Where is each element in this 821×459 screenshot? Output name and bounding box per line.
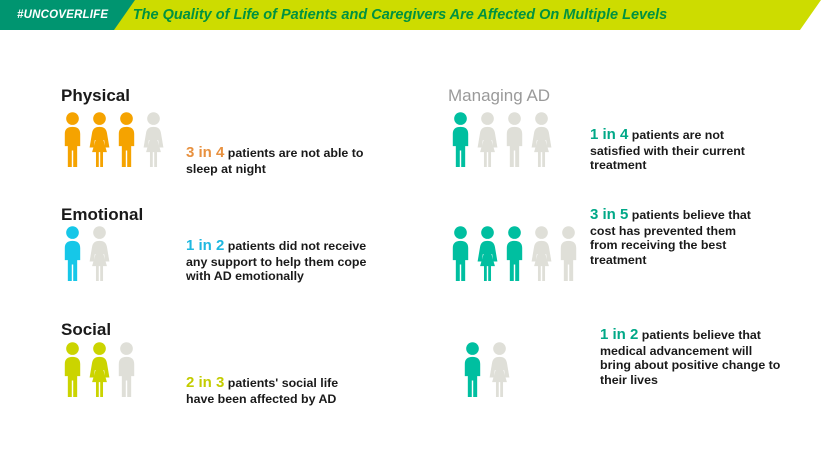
section-heading: Physical	[61, 86, 130, 106]
person-icon-row-emotional	[60, 226, 112, 281]
person-male-icon	[556, 226, 581, 281]
person-male-icon	[114, 342, 139, 397]
person-icon-row-medical-advancement	[460, 342, 512, 397]
stat-ratio: 3 in 4	[186, 144, 224, 161]
stat-text: 1 in 2 patients did not receive any supp…	[186, 237, 371, 284]
person-male-icon	[60, 112, 85, 167]
stat-text: 1 in 2 patients believe that medical adv…	[600, 326, 785, 388]
person-female-icon	[141, 112, 166, 167]
hashtag-label: #UNCOVERLIFE	[17, 0, 108, 30]
person-male-icon	[114, 112, 139, 167]
person-female-icon	[87, 112, 112, 167]
stat-ratio: 3 in 5	[590, 206, 628, 223]
person-icon-row-social	[60, 342, 139, 397]
stat-text: 1 in 4 patients are not satisfied with t…	[590, 126, 755, 173]
stat-text: 3 in 5 patients believe that cost has pr…	[590, 206, 760, 268]
person-female-icon	[87, 226, 112, 281]
stat-ratio: 1 in 4	[590, 126, 628, 143]
stat-text: 3 in 4 patients are not able to sleep at…	[186, 144, 366, 176]
person-female-icon	[87, 342, 112, 397]
page-title: The Quality of Life of Patients and Care…	[0, 0, 800, 30]
stat-ratio: 1 in 2	[600, 326, 638, 343]
person-female-icon	[529, 112, 554, 167]
person-male-icon	[502, 112, 527, 167]
header-banner: The Quality of Life of Patients and Care…	[0, 0, 821, 30]
section-heading: Social	[61, 320, 111, 340]
stat-text: 2 in 3 patients' social life have been a…	[186, 374, 366, 406]
person-icon-row-physical	[60, 112, 166, 167]
stat-ratio: 2 in 3	[186, 374, 224, 391]
person-male-icon	[60, 342, 85, 397]
person-female-icon	[487, 342, 512, 397]
person-male-icon	[448, 226, 473, 281]
person-male-icon	[460, 342, 485, 397]
section-heading: Managing AD	[448, 86, 550, 106]
person-male-icon	[502, 226, 527, 281]
person-male-icon	[60, 226, 85, 281]
person-male-icon	[448, 112, 473, 167]
person-female-icon	[475, 226, 500, 281]
section-heading: Emotional	[61, 205, 143, 225]
person-female-icon	[529, 226, 554, 281]
person-icon-row-managing-ad	[448, 112, 554, 167]
person-icon-row-cost	[448, 226, 581, 281]
stat-ratio: 1 in 2	[186, 237, 224, 254]
person-female-icon	[475, 112, 500, 167]
